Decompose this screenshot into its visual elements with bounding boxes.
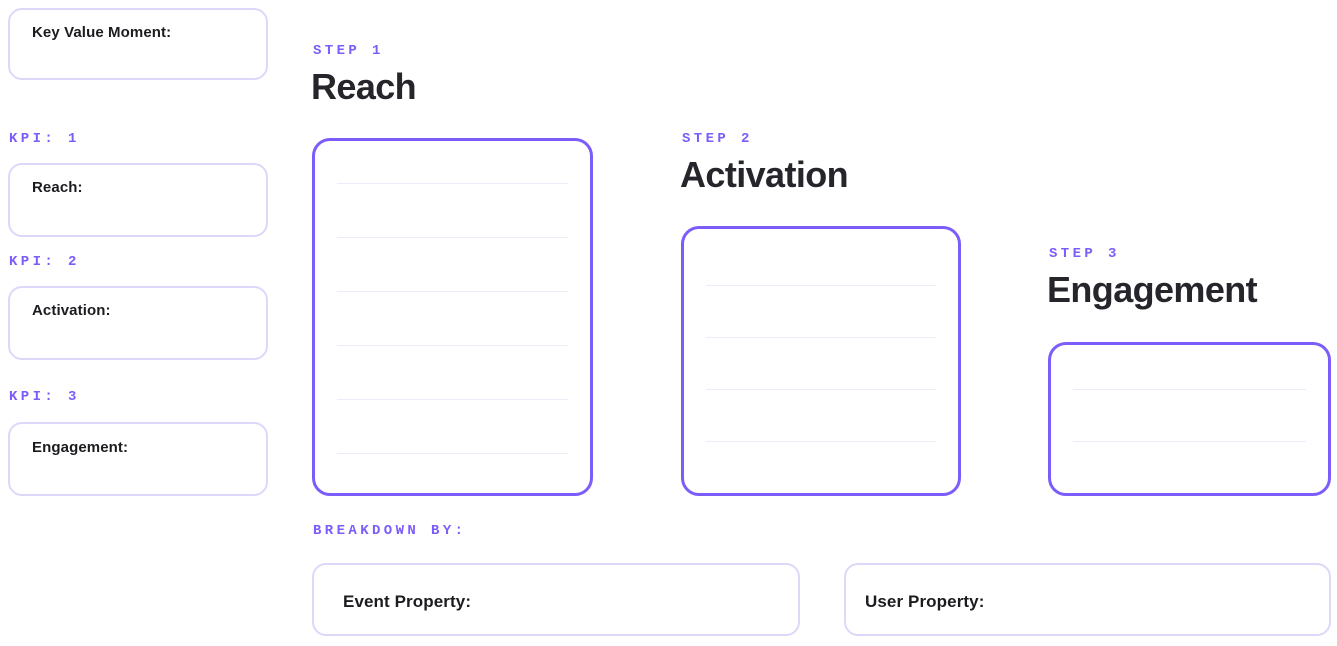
breakdown-by-eyebrow: BREAKDOWN BY:	[313, 523, 466, 539]
kpi-2-eyebrow: KPI: 2	[9, 254, 80, 270]
step-2-title: Activation	[680, 154, 848, 196]
event-property-label: Event Property:	[343, 592, 471, 612]
kpi-3-box[interactable]	[8, 422, 268, 496]
note-rule-line	[337, 345, 568, 346]
step-1-title: Reach	[311, 66, 416, 108]
note-rule-line	[706, 389, 936, 390]
note-rule-line	[337, 291, 568, 292]
kpi-2-box[interactable]	[8, 286, 268, 360]
key-value-moment-label: Key Value Moment:	[32, 24, 171, 41]
note-rule-line	[1073, 389, 1306, 390]
note-rule-line	[337, 183, 568, 184]
kpi-3-eyebrow: KPI: 3	[9, 389, 80, 405]
step-1-ruled-lines	[315, 141, 590, 493]
note-rule-line	[706, 337, 936, 338]
kpi-1-eyebrow: KPI: 1	[9, 131, 80, 147]
step-2-note-box[interactable]	[681, 226, 961, 496]
user-property-label: User Property:	[865, 592, 985, 612]
key-value-moment-box[interactable]	[8, 8, 268, 80]
kpi-1-label: Reach:	[32, 179, 83, 196]
step-3-ruled-lines	[1051, 345, 1328, 493]
kpi-2-label: Activation:	[32, 302, 111, 319]
note-rule-line	[337, 453, 568, 454]
step-2-ruled-lines	[684, 229, 958, 493]
step-1-eyebrow: STEP 1	[313, 43, 384, 59]
step-3-note-box[interactable]	[1048, 342, 1331, 496]
note-rule-line	[706, 441, 936, 442]
worksheet-canvas: Key Value Moment: KPI: 1 Reach: KPI: 2 A…	[0, 0, 1337, 646]
note-rule-line	[337, 399, 568, 400]
kpi-3-label: Engagement:	[32, 439, 128, 456]
note-rule-line	[706, 285, 936, 286]
kpi-1-box[interactable]	[8, 163, 268, 237]
step-1-note-box[interactable]	[312, 138, 593, 496]
note-rule-line	[337, 237, 568, 238]
step-2-eyebrow: STEP 2	[682, 131, 753, 147]
step-3-eyebrow: STEP 3	[1049, 246, 1120, 262]
note-rule-line	[1073, 441, 1306, 442]
step-3-title: Engagement	[1047, 269, 1257, 311]
